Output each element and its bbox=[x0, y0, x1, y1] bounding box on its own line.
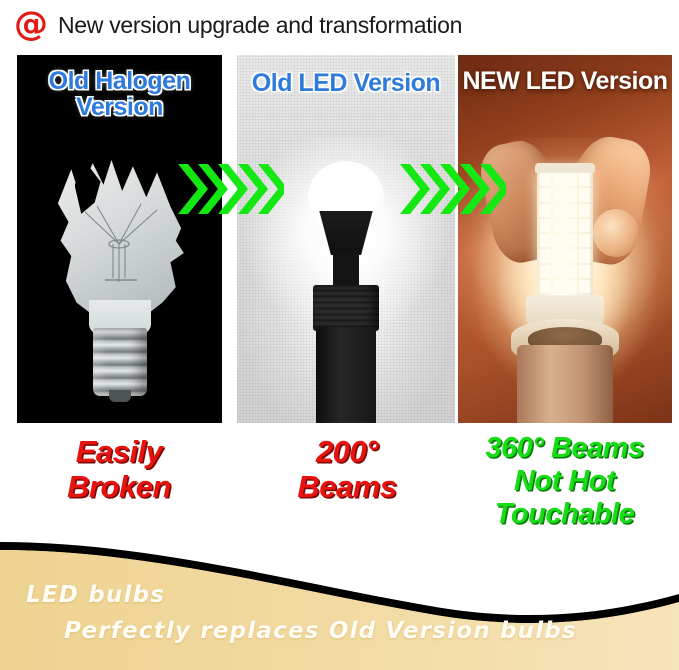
lamp-collar bbox=[313, 285, 379, 331]
bulb-base-tip bbox=[109, 390, 131, 402]
broken-halogen-bulb-image bbox=[45, 160, 195, 400]
transition-arrows-right bbox=[400, 160, 506, 218]
chevron-right-icon bbox=[400, 160, 506, 218]
bulb-filament bbox=[79, 198, 163, 290]
comparison-panel-row: Old Halogen Version Old LED Version bbox=[0, 55, 679, 423]
bulb-screw-base bbox=[93, 328, 147, 396]
panel-old-led: Old LED Version bbox=[237, 55, 455, 423]
caption-line-2: Beams bbox=[238, 469, 456, 504]
at-symbol-icon: @ bbox=[14, 7, 48, 41]
panel-label-line-1: NEW LED bbox=[462, 67, 574, 95]
header-bar: @ New version upgrade and transformation bbox=[0, 0, 679, 50]
caption-line-2: Not Hot bbox=[450, 465, 679, 498]
panel-label-old-halogen: Old Halogen Version bbox=[17, 69, 222, 120]
panel-label-line-1: Old Halogen bbox=[49, 67, 191, 95]
footer-wave-banner: LED bulbs Perfectly replaces Old Version… bbox=[0, 540, 679, 670]
panel-label-line-2: Version bbox=[76, 93, 163, 121]
footer-line-2: Perfectly replaces Old Version bulbs bbox=[64, 618, 577, 644]
panel-label-old-led: Old LED Version bbox=[237, 71, 455, 97]
old-led-bulb-image bbox=[286, 155, 406, 423]
panel-label-line-1: Old LED bbox=[252, 69, 347, 97]
caption-new-led: 360° Beams Not Hot Touchable bbox=[450, 432, 679, 530]
transition-arrows-left bbox=[178, 160, 284, 218]
footer-line-1: LED bulbs bbox=[26, 582, 165, 608]
caption-old-led: 200° Beams bbox=[238, 434, 456, 504]
caption-line-2: Broken bbox=[10, 469, 228, 504]
led-chip-grid bbox=[540, 173, 590, 293]
bulb-top-cap bbox=[535, 163, 595, 173]
panel-label-new-led: NEW LED Version bbox=[458, 69, 672, 95]
lamp-holder bbox=[316, 327, 376, 423]
caption-line-3: Touchable bbox=[450, 498, 679, 531]
lamp-body bbox=[517, 345, 613, 423]
caption-line-1: Easily bbox=[10, 434, 228, 469]
chevron-right-icon bbox=[178, 160, 284, 218]
caption-line-1: 200° bbox=[238, 434, 456, 469]
panel-label-line-2: Version bbox=[353, 69, 440, 97]
caption-old-halogen: Easily Broken bbox=[10, 434, 228, 504]
bulb-stem bbox=[333, 253, 359, 289]
thumb-knuckle bbox=[593, 209, 639, 257]
caption-line-1: 360° Beams bbox=[450, 432, 679, 465]
panel-label-line-2: Version bbox=[581, 67, 668, 95]
panel-old-halogen: Old Halogen Version bbox=[17, 55, 222, 423]
new-led-bulb-image bbox=[485, 147, 645, 423]
page-title: New version upgrade and transformation bbox=[58, 12, 462, 39]
panel-new-led: NEW LED Version bbox=[458, 55, 672, 423]
footer-wave-band-gradient bbox=[0, 550, 679, 670]
corn-led-tube bbox=[537, 169, 593, 299]
